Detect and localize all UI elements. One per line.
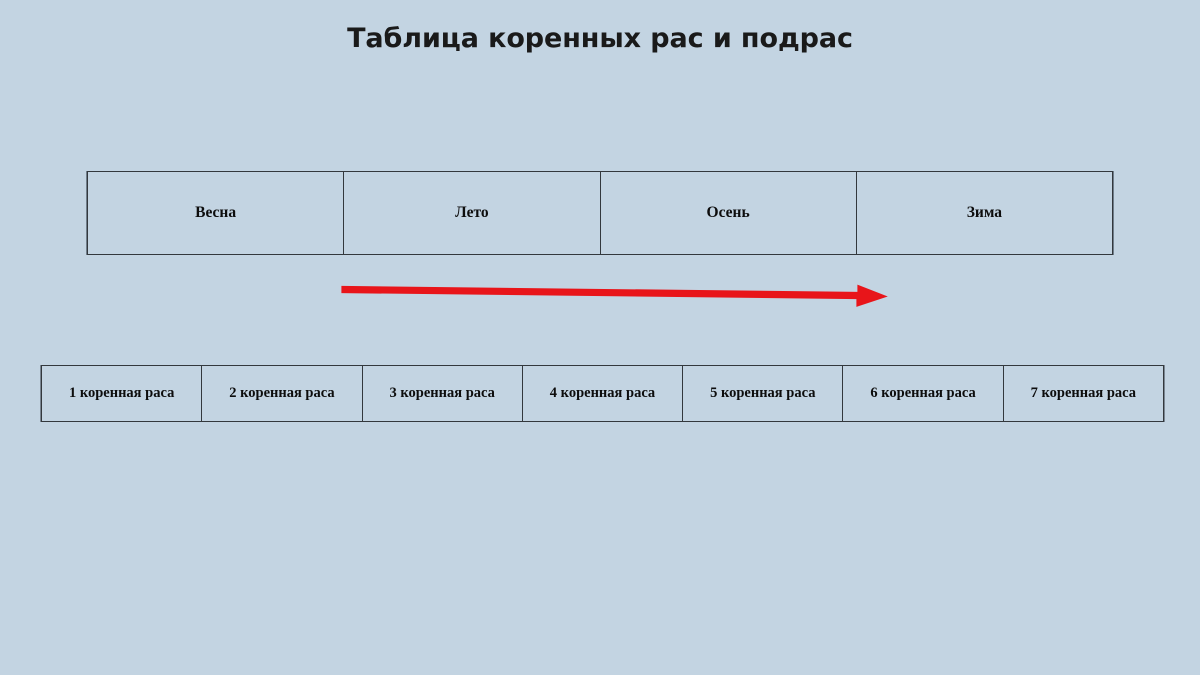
seasons-cell-autumn[interactable]: Осень: [600, 171, 857, 255]
races-cell-label: 3 коренная раса: [367, 384, 518, 403]
seasons-cell-label: Лето: [455, 204, 488, 222]
races-cell-label: 2 коренная раса: [206, 384, 357, 403]
races-cell-label: 6 коренная раса: [847, 384, 998, 403]
page-title: Таблица коренных рас и подрас: [0, 22, 1200, 56]
races-cell-7[interactable]: 7 коренная раса: [1003, 365, 1164, 422]
races-cell-label: 1 коренная раса: [46, 384, 197, 403]
races-cell-label: 5 коренная раса: [687, 384, 838, 403]
seasons-cell-summer[interactable]: Лето: [343, 171, 600, 255]
slide-canvas: Таблица коренных рас и подрас Весна Лето…: [0, 0, 1200, 675]
timeline-arrow: [330, 272, 900, 318]
races-cell-1[interactable]: 1 коренная раса: [41, 365, 202, 422]
seasons-cell-label: Зима: [967, 204, 1002, 222]
races-table: 1 коренная раса 2 коренная раса 3 коренн…: [40, 365, 1165, 422]
races-cell-6[interactable]: 6 коренная раса: [842, 365, 1003, 422]
races-cell-5[interactable]: 5 коренная раса: [682, 365, 843, 422]
seasons-cell-winter[interactable]: Зима: [856, 171, 1113, 255]
races-cell-label: 7 коренная раса: [1008, 384, 1159, 403]
seasons-cell-spring[interactable]: Весна: [87, 171, 344, 255]
races-cell-label: 4 коренная раса: [527, 384, 678, 403]
seasons-table: Весна Лето Осень Зима: [86, 171, 1114, 255]
races-cell-4[interactable]: 4 коренная раса: [522, 365, 683, 422]
arrow-icon: [342, 286, 886, 307]
races-cell-2[interactable]: 2 коренная раса: [201, 365, 362, 422]
seasons-cell-label: Весна: [195, 204, 236, 222]
seasons-cell-label: Осень: [707, 204, 750, 222]
races-cell-3[interactable]: 3 коренная раса: [362, 365, 523, 422]
